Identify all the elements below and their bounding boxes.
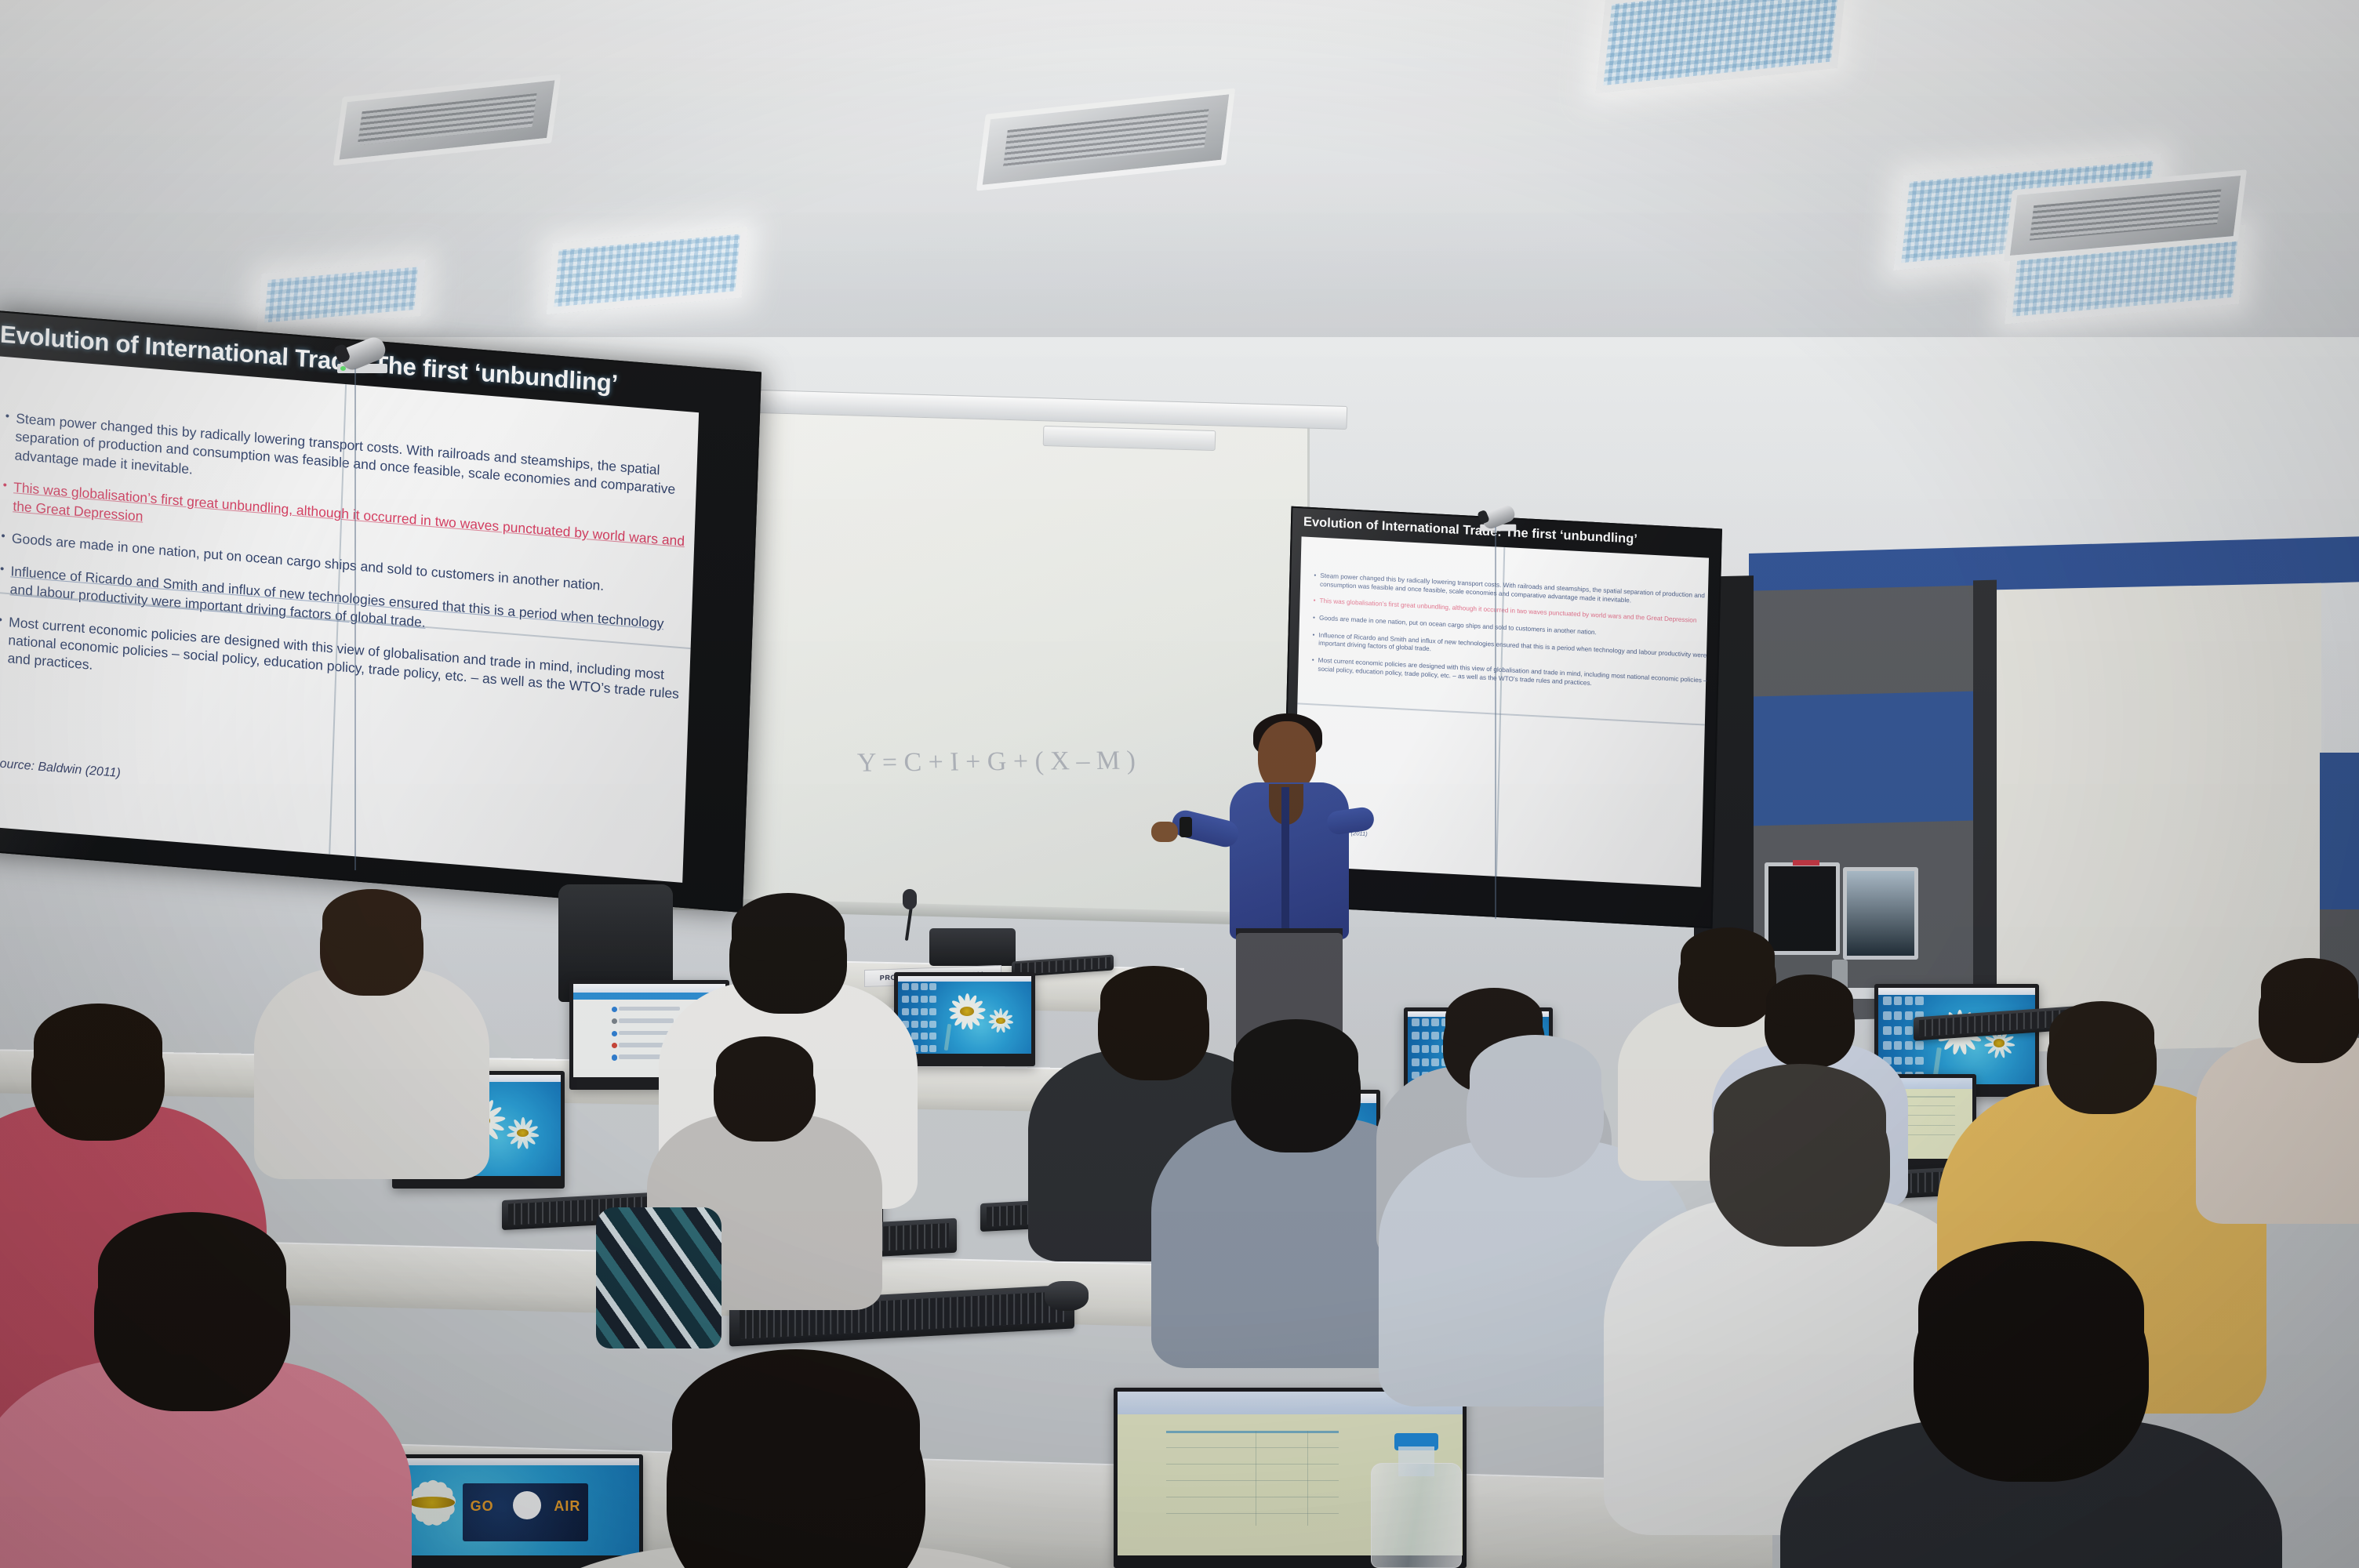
slide-bullet-list-secondary: •Steam power changed this by radically l… — [1307, 572, 1710, 702]
spreadsheet-gridline — [1166, 1447, 1339, 1448]
desktop-icon[interactable] — [929, 1033, 936, 1040]
desktop-icon[interactable] — [1894, 1041, 1903, 1050]
audience-hair — [1470, 1035, 1601, 1116]
presenter-wristwatch — [1179, 817, 1192, 837]
windows-taskbar[interactable] — [898, 976, 1031, 982]
spreadsheet-gridline — [1166, 1497, 1339, 1497]
list-avatar-icon — [612, 1043, 618, 1048]
daisy-core — [996, 1018, 1005, 1024]
bullet-dot-icon: • — [1310, 572, 1321, 589]
presenter-pointing-hand — [1151, 822, 1178, 842]
bullet-dot-icon: • — [1309, 614, 1319, 622]
desktop-icon[interactable] — [1431, 1058, 1439, 1066]
desktop-icon[interactable] — [921, 983, 928, 990]
list-avatar-icon — [612, 1054, 618, 1060]
audience-hair — [1766, 975, 1852, 1027]
desktop-icon[interactable] — [1894, 996, 1903, 1005]
desktop-icon[interactable] — [1883, 996, 1892, 1005]
desktop-icon[interactable] — [1431, 1032, 1439, 1040]
desktop-icon[interactable] — [1422, 1045, 1430, 1053]
spreadsheet-gridline — [1166, 1513, 1339, 1514]
monitor-left[interactable] — [1765, 862, 1840, 955]
desktop-icon[interactable] — [921, 1045, 928, 1052]
bottle-body — [1371, 1463, 1462, 1568]
desktop-icon[interactable] — [1915, 996, 1924, 1005]
desktop-icon[interactable] — [921, 1033, 928, 1040]
audience-hair — [732, 893, 845, 961]
desktop-icon[interactable] — [902, 1008, 909, 1015]
desktop-icon[interactable] — [921, 996, 928, 1003]
audience-hair — [672, 1349, 921, 1500]
spreadsheet-gridline — [1166, 1431, 1339, 1433]
desktop-icon[interactable] — [1883, 1026, 1892, 1035]
daisy-flower-small — [498, 1113, 547, 1152]
backpack — [596, 1207, 722, 1348]
bullet-dot-icon: • — [1308, 631, 1319, 648]
slide-surface-secondary: •Steam power changed this by radically l… — [1293, 536, 1709, 887]
desktop-icon[interactable] — [929, 1045, 936, 1052]
list-avatar-icon — [612, 1007, 618, 1012]
sticker-left-text: GO — [471, 1498, 494, 1515]
desktop-icon[interactable] — [1431, 1045, 1439, 1053]
desktop-icon[interactable] — [911, 1021, 918, 1028]
wall-panel-grey — [1750, 585, 1986, 700]
monitor-status-indicator — [1793, 860, 1819, 866]
desktop-icon[interactable] — [1894, 1011, 1903, 1020]
audience-hair — [2261, 958, 2359, 1018]
desktop-icon[interactable] — [1905, 1041, 1914, 1050]
desktop-icon[interactable] — [929, 983, 936, 990]
audience-hair — [716, 1036, 814, 1096]
desktop-icon[interactable] — [929, 996, 936, 1003]
laptop-sticker: GO AIR — [463, 1483, 588, 1541]
list-avatar-icon — [612, 1031, 618, 1036]
wall-panel-blue — [1750, 691, 1978, 829]
slide-surface: •Steam power changed this by radically l… — [0, 356, 699, 883]
desktop-icon[interactable] — [921, 1021, 928, 1028]
desktop-icon[interactable] — [1431, 1018, 1439, 1026]
desktop-icon[interactable] — [1422, 1058, 1430, 1066]
audience-hair — [1100, 966, 1207, 1031]
gooseneck-microphone[interactable] — [908, 894, 916, 941]
audience-hair — [34, 1004, 162, 1081]
desktop-icon[interactable] — [902, 983, 909, 990]
desktop-icon[interactable] — [911, 983, 918, 990]
audience-hair — [98, 1212, 286, 1325]
camera-drop-cable — [354, 368, 356, 870]
sticker-right-text: AIR — [554, 1498, 580, 1515]
audience-shoulders — [254, 967, 489, 1179]
desktop-icon[interactable] — [1915, 1041, 1924, 1050]
desktop-icon[interactable] — [921, 1008, 928, 1015]
audience-hair — [322, 889, 422, 949]
daisy-core — [409, 1497, 455, 1508]
list-avatar-icon — [612, 1018, 618, 1024]
windows-taskbar[interactable] — [1878, 988, 2035, 995]
desktop-icon[interactable] — [1412, 1018, 1419, 1026]
slide-source-note: Source: Baldwin (2011) — [0, 757, 121, 781]
desktop-icon[interactable] — [902, 996, 909, 1003]
bullet-dot-icon: • — [1307, 656, 1318, 673]
lectern-console[interactable] — [929, 928, 1016, 966]
sticker-play-icon — [513, 1491, 541, 1519]
audience-shoulders — [2196, 1036, 2359, 1224]
wall-column-shadow — [1973, 580, 1997, 1051]
desktop-icon[interactable] — [911, 1033, 918, 1040]
camera-led-icon — [340, 366, 346, 371]
bullet-dot-icon: • — [0, 528, 12, 548]
daisy-core — [1994, 1039, 2005, 1047]
slide-bullet-list: •Steam power changed this by radically l… — [0, 408, 696, 737]
spreadsheet-gridline — [1166, 1464, 1339, 1465]
audience-hair — [1234, 1019, 1358, 1094]
desktop-icon[interactable] — [929, 1021, 936, 1028]
monitor-screen — [898, 976, 1031, 1054]
spreadsheet-gridline — [1166, 1480, 1339, 1481]
whiteboard-equation: Y = C + I + G + ( X – M ) — [856, 746, 1136, 779]
bullet-dot-icon: • — [0, 477, 14, 516]
wall-panel-blue — [2320, 753, 2359, 909]
desktop-icon[interactable] — [1412, 1058, 1419, 1066]
desktop-icon[interactable] — [1422, 1032, 1430, 1040]
desktop-icon[interactable] — [1422, 1018, 1430, 1026]
desktop-icon[interactable] — [1412, 1045, 1419, 1053]
audience-hair — [1918, 1241, 2144, 1377]
audience-hair — [2049, 1001, 2154, 1065]
desktop-icon[interactable] — [1894, 1026, 1903, 1035]
desktop-icon[interactable] — [1905, 1026, 1914, 1035]
list-row — [619, 1007, 680, 1011]
desktop-icon[interactable] — [1905, 1011, 1914, 1020]
presenter-shirt-placket — [1281, 787, 1289, 928]
classroom-photo: → ∵ Y = C + I + G + ( X – M ) •Steam pow… — [0, 0, 2359, 1568]
spreadsheet-gridline — [1307, 1431, 1308, 1526]
audience-hair — [1681, 927, 1775, 984]
desktop-icon[interactable] — [1412, 1032, 1419, 1040]
projection-screen-main: •Steam power changed this by radically l… — [0, 310, 761, 913]
desktop-icon[interactable] — [1915, 1057, 1924, 1065]
mic-capsule-icon — [903, 889, 917, 909]
bullet-dot-icon: • — [1309, 597, 1319, 605]
desktop-icon[interactable] — [911, 996, 918, 1003]
desktop-icon[interactable] — [1905, 1057, 1914, 1065]
desktop-icon[interactable] — [929, 1008, 936, 1015]
spreadsheet-gridline — [1256, 1431, 1256, 1526]
audience-hair — [1714, 1064, 1887, 1167]
desktop-icon[interactable] — [1883, 1011, 1892, 1020]
water-bottle[interactable] — [1371, 1433, 1462, 1568]
camera-drop-cable — [1495, 527, 1496, 919]
list-row — [619, 1018, 674, 1023]
desktop-icon[interactable] — [1894, 1057, 1903, 1065]
desktop-icon[interactable] — [911, 1008, 918, 1015]
monitor-right[interactable] — [1843, 867, 1918, 960]
desktop-icon[interactable] — [1905, 996, 1914, 1005]
desktop-icon[interactable] — [1883, 1041, 1892, 1050]
computer-mouse[interactable] — [1045, 1281, 1089, 1311]
browser-title-bar — [573, 984, 725, 993]
